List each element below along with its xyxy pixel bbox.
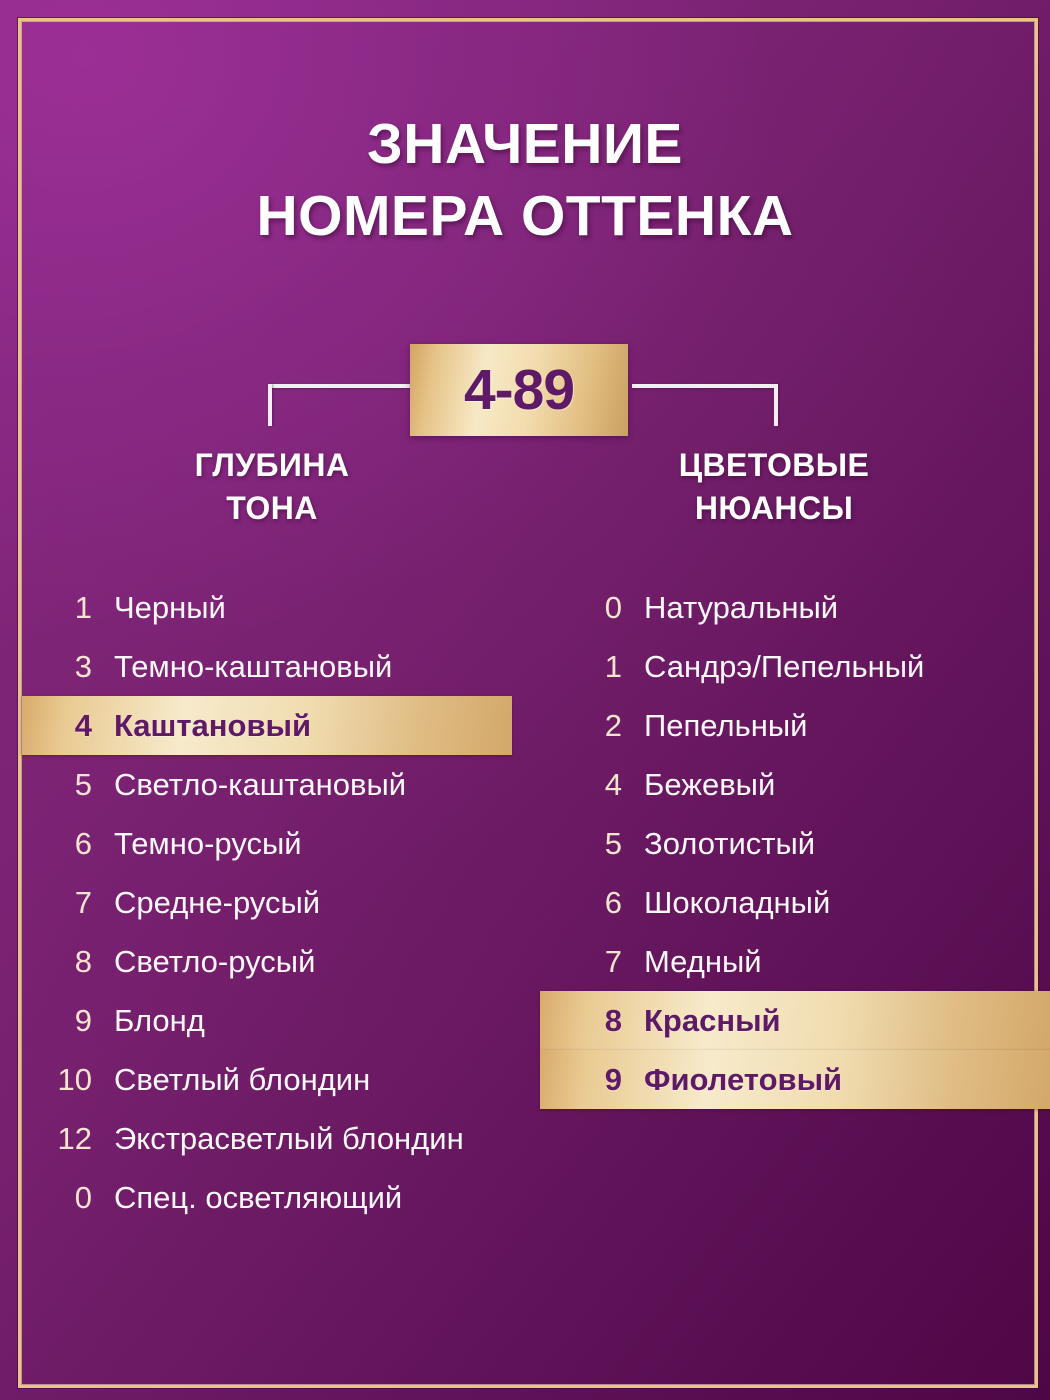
tone-depth-row: 9Блонд bbox=[22, 991, 512, 1050]
color-nuance-row-number: 0 bbox=[540, 592, 644, 623]
tone-depth-row-label: Блонд bbox=[114, 1005, 512, 1036]
tone-depth-row-label: Спец. осветляющий bbox=[114, 1182, 512, 1213]
color-nuance-row-label: Золотистый bbox=[644, 828, 1030, 859]
tone-depth-row-number: 12 bbox=[22, 1123, 114, 1154]
color-nuance-row: 2Пепельный bbox=[540, 696, 1030, 755]
color-nuance-row-label: Бежевый bbox=[644, 769, 1030, 800]
tone-depth-row-label: Светло-русый bbox=[114, 946, 512, 977]
tone-depth-row-number: 5 bbox=[22, 769, 114, 800]
color-nuance-row-number: 2 bbox=[540, 710, 644, 741]
color-nuance-row-number: 6 bbox=[540, 887, 644, 918]
column-heading-depth-line-1: ГЛУБИНА bbox=[90, 444, 454, 487]
tone-depth-row: 1Черный bbox=[22, 578, 512, 637]
color-nuance-row: 1Сандрэ/Пепельный bbox=[540, 637, 1030, 696]
tone-depth-row-number: 6 bbox=[22, 828, 114, 859]
tone-depth-row-number: 1 bbox=[22, 592, 114, 623]
tone-depth-row-label: Светло-каштановый bbox=[114, 769, 512, 800]
color-nuance-row: 5Золотистый bbox=[540, 814, 1030, 873]
tone-depth-row-label: Каштановый bbox=[114, 710, 512, 741]
page-title-line-2: НОМЕРА ОТТЕНКА bbox=[0, 180, 1050, 252]
column-heading-depth: ГЛУБИНА ТОНА bbox=[90, 444, 454, 530]
tone-depth-row: 4Каштановый bbox=[22, 696, 512, 755]
color-nuance-row-label: Красный bbox=[644, 1005, 1050, 1036]
tone-depth-row: 6Темно-русый bbox=[22, 814, 512, 873]
bracket-left-vertical bbox=[268, 384, 272, 426]
tone-depth-row: 3Темно-каштановый bbox=[22, 637, 512, 696]
tone-depth-row: 5Светло-каштановый bbox=[22, 755, 512, 814]
color-nuance-row-label: Сандрэ/Пепельный bbox=[644, 651, 1030, 682]
color-nuance-row-label: Натуральный bbox=[644, 592, 1030, 623]
tone-depth-row-label: Черный bbox=[114, 592, 512, 623]
color-nuance-row-label: Фиолетовый bbox=[644, 1064, 1050, 1095]
page-title: ЗНАЧЕНИЕ НОМЕРА ОТТЕНКА bbox=[0, 108, 1050, 253]
tone-depth-row: 7Средне-русый bbox=[22, 873, 512, 932]
tone-depth-row-number: 4 bbox=[22, 710, 114, 741]
column-heading-depth-line-2: ТОНА bbox=[90, 487, 454, 530]
column-heading-nuances-line-2: НЮАНСЫ bbox=[592, 487, 956, 530]
tone-depth-row-label: Темно-русый bbox=[114, 828, 512, 859]
tone-depth-row-number: 8 bbox=[22, 946, 114, 977]
color-nuance-row-label: Медный bbox=[644, 946, 1030, 977]
page-title-line-1: ЗНАЧЕНИЕ bbox=[0, 108, 1050, 180]
bracket-left-horizontal bbox=[268, 384, 414, 388]
tone-depth-row-label: Средне-русый bbox=[114, 887, 512, 918]
color-nuance-row: 6Шоколадный bbox=[540, 873, 1030, 932]
tone-depth-row: 8Светло-русый bbox=[22, 932, 512, 991]
color-nuance-list: 0Натуральный1Сандрэ/Пепельный2Пепельный4… bbox=[540, 578, 1030, 1109]
tone-depth-row-number: 10 bbox=[22, 1064, 114, 1095]
tone-depth-row-number: 3 bbox=[22, 651, 114, 682]
color-nuance-row-number: 7 bbox=[540, 946, 644, 977]
bracket-right-horizontal bbox=[632, 384, 778, 388]
tone-depth-row-number: 0 bbox=[22, 1182, 114, 1213]
column-heading-nuances-line-1: ЦВЕТОВЫЕ bbox=[592, 444, 956, 487]
color-nuance-row: 0Натуральный bbox=[540, 578, 1030, 637]
color-nuance-row: 4Бежевый bbox=[540, 755, 1030, 814]
tone-depth-row: 10Светлый блондин bbox=[22, 1050, 512, 1109]
bracket-connector: 4-89 bbox=[0, 340, 1050, 440]
color-nuance-row-label: Шоколадный bbox=[644, 887, 1030, 918]
bracket-right-vertical bbox=[774, 384, 778, 426]
color-nuance-row: 8Красный bbox=[540, 991, 1050, 1050]
color-nuance-row-number: 4 bbox=[540, 769, 644, 800]
tone-depth-row-label: Светлый блондин bbox=[114, 1064, 512, 1095]
color-nuance-row-number: 5 bbox=[540, 828, 644, 859]
tone-depth-row: 0Спец. осветляющий bbox=[22, 1168, 512, 1227]
column-heading-nuances: ЦВЕТОВЫЕ НЮАНСЫ bbox=[592, 444, 956, 530]
shade-code-value: 4-89 bbox=[464, 357, 574, 423]
tone-depth-row-label: Экстрасветлый блондин bbox=[114, 1123, 512, 1154]
shade-number-infographic: ЗНАЧЕНИЕ НОМЕРА ОТТЕНКА 4-89 ГЛУБИНА ТОН… bbox=[0, 0, 1050, 1400]
tone-depth-row-label: Темно-каштановый bbox=[114, 651, 512, 682]
tone-depth-row-number: 9 bbox=[22, 1005, 114, 1036]
tone-depth-row: 12Экстрасветлый блондин bbox=[22, 1109, 512, 1168]
color-nuance-row-number: 8 bbox=[540, 1005, 644, 1036]
tone-depth-row-number: 7 bbox=[22, 887, 114, 918]
color-nuance-row: 9Фиолетовый bbox=[540, 1050, 1050, 1109]
color-nuance-row: 7Медный bbox=[540, 932, 1030, 991]
color-nuance-row-number: 1 bbox=[540, 651, 644, 682]
color-nuance-row-number: 9 bbox=[540, 1064, 644, 1095]
tone-depth-list: 1Черный3Темно-каштановый4Каштановый5Свет… bbox=[22, 578, 512, 1227]
color-nuance-row-label: Пепельный bbox=[644, 710, 1030, 741]
shade-code-badge: 4-89 bbox=[410, 344, 628, 436]
